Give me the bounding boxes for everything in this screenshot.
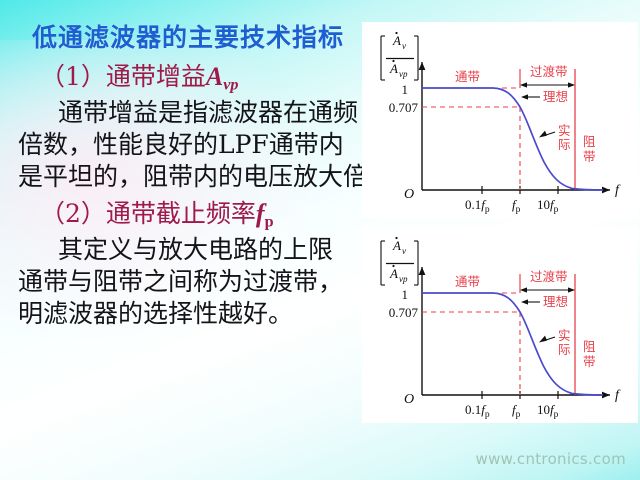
y-axis-label-bottom: A v A vp xyxy=(381,237,418,285)
ylabel-numerator-sub: v xyxy=(402,41,406,51)
chart-axes-top: O f xyxy=(404,62,621,202)
y-axis-arrow xyxy=(419,267,426,275)
svg-text:际: 际 xyxy=(558,137,571,152)
svg-text:实: 实 xyxy=(558,123,571,138)
x-axis-label: f xyxy=(615,183,621,198)
heading-1-symbol-base: A xyxy=(206,62,223,91)
svg-text:过渡带: 过渡带 xyxy=(530,269,568,284)
x-axis-label: f xyxy=(615,388,621,403)
chart-svg-bottom: A v A vp O f 1 0.707 xyxy=(362,227,638,423)
ylabel-numerator: A xyxy=(392,33,401,48)
ylabel-denominator-sub: vp xyxy=(399,274,408,284)
chart-svg-top: A v A vp O f 1 0.707 xyxy=(362,22,638,218)
xtick-0-1fp: 0.1fp xyxy=(465,197,490,215)
xtick-10fp: 10fp xyxy=(537,197,559,215)
phasor-dot-numerator xyxy=(395,32,397,34)
paragraph-2-line-3: 明滤波器的选择性越好。 xyxy=(18,298,390,330)
svg-text:阻: 阻 xyxy=(583,134,596,149)
y-axis-label-top: A v A vp xyxy=(381,32,418,80)
page-title: 低通滤波器的主要技术指标 xyxy=(32,18,344,54)
heading-1-symbol: Avp xyxy=(206,62,239,91)
ylabel-numerator-sub: v xyxy=(402,246,406,256)
ylabel-denominator: A xyxy=(389,266,398,281)
paragraph-1-line-1: 通带增益是指滤波器在通频 xyxy=(18,97,390,129)
origin-label: O xyxy=(404,187,414,202)
lpf-response-chart-top: A v A vp O f 1 0.707 xyxy=(362,22,638,218)
heading-2-symbol: fp xyxy=(256,199,274,228)
y-axis-arrow xyxy=(419,62,426,70)
y-tick-labels-top: 1 0.707 xyxy=(389,82,419,115)
x-tick-labels-bottom: 0.1fp fp 10fp xyxy=(465,402,559,420)
ytick-1: 1 xyxy=(402,287,409,302)
chart-axes-bottom: O f xyxy=(404,267,621,407)
lpf-response-chart-bottom: A v A vp O f 1 0.707 xyxy=(362,227,638,423)
annotation-stopband-top: 阻 带 xyxy=(583,134,596,164)
xtick-0-1fp: 0.1fp xyxy=(465,402,490,420)
x-axis-arrow xyxy=(602,187,610,194)
ylabel-numerator: A xyxy=(392,238,401,253)
svg-text:实: 实 xyxy=(558,328,571,343)
ytick-0707: 0.707 xyxy=(389,305,419,320)
svg-text:过渡带: 过渡带 xyxy=(530,64,568,79)
heading-1-prefix: （1）通带增益 xyxy=(40,62,206,91)
annotation-actual-bottom: 实 际 xyxy=(539,328,571,357)
xtick-fp: fp xyxy=(512,197,521,215)
xtick-10fp: 10fp xyxy=(537,402,559,420)
svg-text:阻: 阻 xyxy=(583,339,596,354)
svg-text:际: 际 xyxy=(558,342,571,357)
ytick-0707: 0.707 xyxy=(389,100,419,115)
heading-cutoff-frequency: （2）通带截止频率fp xyxy=(40,199,390,232)
annotation-transition-band-top: 过渡带 xyxy=(520,64,575,88)
annotation-ideal-bottom: 理想 xyxy=(521,294,568,309)
annotation-actual-top: 实 际 xyxy=(539,123,571,152)
annotation-passband-top: 通带 xyxy=(455,69,480,84)
slide-canvas: 低通滤波器的主要技术指标 （1）通带增益Avp 通带增益是指滤波器在通频 倍数，… xyxy=(0,0,640,480)
heading-2-prefix: （2）通带截止频率 xyxy=(40,199,256,228)
heading-passband-gain: （1）通带增益Avp xyxy=(40,62,390,95)
guide-lines-bottom xyxy=(422,293,520,395)
paragraph-1-line-3: 是平坦的，阻带内的电压放大倍 xyxy=(18,161,390,193)
y-tick-labels-bottom: 1 0.707 xyxy=(389,287,419,320)
svg-text:理想: 理想 xyxy=(543,294,568,309)
guide-lines-top xyxy=(422,88,520,190)
body-text-column: （1）通带增益Avp 通带增益是指滤波器在通频 倍数，性能良好的LPF通带内 是… xyxy=(18,62,390,330)
origin-label: O xyxy=(404,392,414,407)
paragraph-1-line-2: 倍数，性能良好的LPF通带内 xyxy=(18,129,390,161)
svg-text:理想: 理想 xyxy=(543,89,568,104)
annotation-passband-bottom: 通带 xyxy=(455,274,480,289)
annotation-ideal-top: 理想 xyxy=(521,89,568,104)
heading-1-symbol-sub: vp xyxy=(223,77,238,94)
heading-2-symbol-sub: p xyxy=(265,214,274,231)
svg-text:通带: 通带 xyxy=(455,69,480,84)
watermark: www.cntronics.com xyxy=(476,450,627,468)
x-axis-arrow xyxy=(602,392,610,399)
ylabel-denominator-sub: vp xyxy=(399,69,408,79)
phasor-dot-denominator xyxy=(392,60,394,62)
svg-text:通带: 通带 xyxy=(455,274,480,289)
phasor-dot-numerator xyxy=(395,237,397,239)
annotation-transition-band-bottom: 过渡带 xyxy=(520,269,575,293)
paragraph-2-line-1: 其定义与放大电路的上限 xyxy=(18,234,390,266)
ylabel-denominator: A xyxy=(389,61,398,76)
xtick-fp: fp xyxy=(512,402,521,420)
annotation-stopband-bottom: 阻 带 xyxy=(583,339,596,369)
paragraph-2-line-2: 通带与阻带之间称为过渡带， xyxy=(18,266,390,298)
svg-text:带: 带 xyxy=(583,354,596,369)
ytick-1: 1 xyxy=(402,82,409,97)
heading-2-symbol-base: f xyxy=(256,199,265,228)
x-tick-labels-top: 0.1fp fp 10fp xyxy=(465,197,559,215)
phasor-dot-denominator xyxy=(392,265,394,267)
svg-text:带: 带 xyxy=(583,149,596,164)
